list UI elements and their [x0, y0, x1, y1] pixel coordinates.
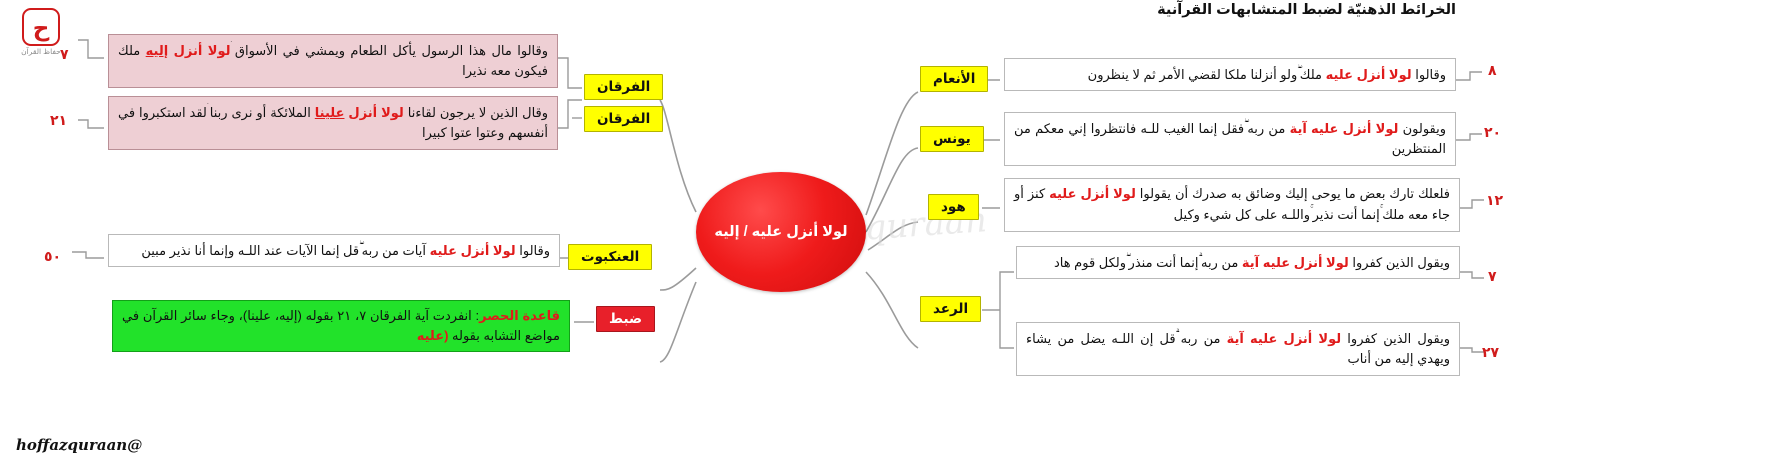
- verse-text: ويقول الذين كفروا لولا أنزل عليه آية من …: [1054, 255, 1450, 270]
- central-node[interactable]: لولا أنزل عليه / إليه: [696, 172, 866, 292]
- verse-number-ankabut-50: ٥٠: [44, 248, 61, 265]
- chip-alanam[interactable]: الأنعام: [920, 66, 988, 92]
- chip-hud[interactable]: هود: [928, 194, 979, 220]
- verse-box-raad-27[interactable]: ويقول الذين كفروا لولا أنزل عليه آية من …: [1016, 322, 1460, 376]
- verse-box-furqan-7[interactable]: وقالوا مال هذا الرسول يأكل الطعام ويمشي …: [108, 34, 558, 88]
- verse-text: وقالوا مال هذا الرسول يأكل الطعام ويمشي …: [118, 43, 548, 78]
- verse-number-yunus-20: ٢٠: [1484, 124, 1501, 141]
- chip-alankabut[interactable]: العنكبوت: [568, 244, 652, 270]
- chip-yunus[interactable]: يونس: [920, 126, 984, 152]
- verse-text: ويقول الذين كفروا لولا أنزل عليه آية من …: [1026, 331, 1450, 366]
- chip-dabt[interactable]: ضبط: [596, 306, 655, 332]
- brand-logo: ح حفاظ القرآن: [18, 8, 64, 60]
- chip-arraad[interactable]: الرعد: [920, 296, 981, 322]
- verse-number-raad-27: ٢٧: [1482, 344, 1499, 361]
- chip-alfurqan-1[interactable]: الفرقان: [584, 74, 663, 100]
- verse-number-furqan-7: ٧: [60, 46, 69, 63]
- verse-number-hud-12: ١٢: [1486, 192, 1503, 209]
- verse-box-ankabut-50[interactable]: وقالوا لولا أنزل عليه آيات من ربه ۖقل إن…: [108, 234, 560, 267]
- verse-number-anam-8: ٨: [1488, 62, 1497, 79]
- verse-text: وقالوا لولا أنزل عليه ملك ۖولو أنزلنا مل…: [1088, 67, 1446, 82]
- verse-text: وقال الذين لا يرجون لقاءنا لولا أنزل علي…: [118, 105, 548, 140]
- verse-number-raad-7: ٧: [1488, 268, 1497, 285]
- rule-box-hasr[interactable]: قاعدة الحصر: انفردت آية الفرقان ٧، ٢١ بق…: [112, 300, 570, 352]
- verse-box-anam-8[interactable]: وقالوا لولا أنزل عليه ملك ۖولو أنزلنا مل…: [1004, 58, 1456, 91]
- chip-alfurqan-2[interactable]: الفرقان: [584, 106, 663, 132]
- mindmap-canvas: الخرائط الذهنيّة لضبط المتشابهات القرآني…: [0, 0, 1786, 462]
- verse-box-raad-7[interactable]: ويقول الذين كفروا لولا أنزل عليه آية من …: [1016, 246, 1460, 279]
- logo-mark-icon: ح: [22, 8, 60, 46]
- rule-text: قاعدة الحصر: انفردت آية الفرقان ٧، ٢١ بق…: [122, 308, 560, 343]
- logo-caption: حفاظ القرآن: [18, 47, 64, 56]
- verse-box-hud-12[interactable]: فلعلك تارك بعض ما يوحى إليك وضائق به صدر…: [1004, 178, 1460, 232]
- verse-box-furqan-21[interactable]: وقال الذين لا يرجون لقاءنا لولا أنزل علي…: [108, 96, 558, 150]
- verse-number-furqan-21: ٢١: [50, 112, 67, 129]
- page-title: الخرائط الذهنيّة لضبط المتشابهات القرآني…: [1157, 2, 1456, 18]
- verse-text: ويقولون لولا أنزل عليه آية من ربه ۖفقل إ…: [1014, 121, 1446, 156]
- verse-text: وقالوا لولا أنزل عليه آيات من ربه ۖقل إن…: [141, 243, 550, 258]
- verse-box-yunus-20[interactable]: ويقولون لولا أنزل عليه آية من ربه ۖفقل إ…: [1004, 112, 1456, 166]
- author-handle: @hoffazquraan: [16, 436, 142, 454]
- verse-text: فلعلك تارك بعض ما يوحى إليك وضائق به صدر…: [1014, 186, 1450, 222]
